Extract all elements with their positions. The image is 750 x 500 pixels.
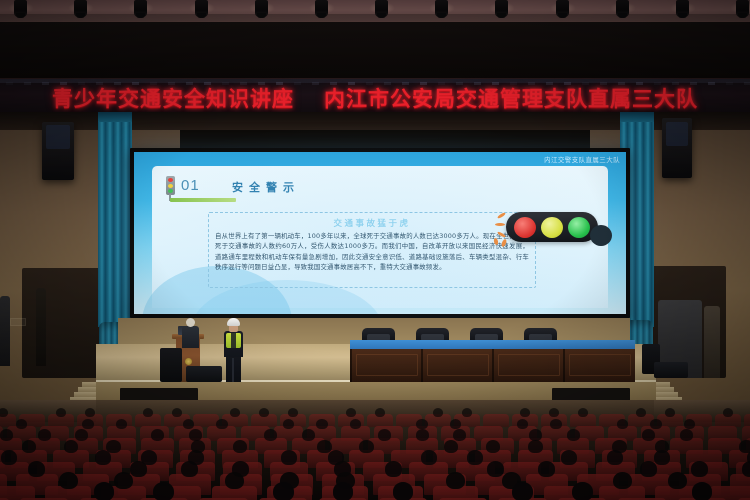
table-seam [421,349,423,382]
curtain-rail-right [620,112,654,122]
slide-text-box: 交通事故猛于虎 自从世界上有了第一辆机动车，100多年以来，全球死于交通事故的人… [208,212,536,288]
banner-led-dot [294,82,301,85]
traffic-light-arm [590,225,612,246]
banner-led-dot [186,82,193,85]
banner-led-dot [672,82,679,85]
audience-member [16,419,28,429]
table-cloth [350,340,635,349]
table-seam [563,349,565,382]
upper-dark-wall [0,22,750,78]
audience-area [0,400,750,500]
audience-member [416,429,429,441]
audience-member [607,450,623,465]
banner-led-dot [6,82,13,85]
audience-member [316,419,328,429]
officer-face [229,325,238,332]
curtain-rail-left [98,112,132,122]
slide-content-card: 01 安全警示 交通事故猛于虎 自从世界上有了第一辆机动车，100多年以来，全球… [152,166,608,308]
audience-member [375,408,385,417]
banner-led-dot [258,82,265,85]
audience-member [421,450,437,465]
banner-led-dot [474,82,481,85]
audience-member [640,461,658,477]
hanging-speaker-right [662,118,692,178]
traffic-light-red [514,217,536,238]
traffic-light-graphic [506,212,598,242]
audience-member [273,482,294,500]
podium-emblem [185,358,192,365]
banner-led-dot [600,82,607,85]
audience-member [444,440,459,453]
audience-member [642,429,655,441]
banner-led-dot [420,82,427,85]
audience-member [684,419,696,429]
audience-member [450,419,462,429]
audience-member [172,408,182,417]
audience-member [153,482,174,500]
banner-title-left: 青少年交通安全知识讲座 [52,83,294,113]
burst-ray [495,223,505,226]
audience-member [462,408,472,417]
audience-member [264,429,277,441]
audience-member [333,482,354,500]
audience-member [75,429,88,441]
audience-member [216,419,228,429]
banner-led-dot [222,82,229,85]
banner-led-dot [330,82,337,85]
ceiling-light [495,0,508,17]
audience-member [0,408,8,417]
audience-member [561,450,577,465]
banner-led-dot [618,82,625,85]
section-marker: 01 [166,176,200,195]
ceiling-light [616,0,629,17]
audience-member [22,440,37,453]
audience-member [283,419,295,429]
ceiling-light [14,0,27,17]
audience-member [183,419,195,429]
audience-member [512,482,533,500]
slide-watermark: 内江交警支队直属三大队 [544,154,620,164]
audience-member [486,440,501,453]
audience-member [259,408,269,417]
audience-member [572,482,593,500]
audience-member [94,482,115,500]
banner-led-dot [726,82,733,85]
audience-member [680,429,693,441]
banner-led-dot [204,82,211,85]
hanging-speaker-left [42,122,74,180]
banner-led-dot [312,82,319,85]
audience-member [520,408,530,417]
audience-member [393,482,414,500]
subwoofer-left [160,348,182,382]
table-panel [427,354,489,376]
audience-member [567,429,580,441]
banner-led-dot [636,82,643,85]
audience-member [433,408,443,417]
officer-white-helmet [227,318,240,326]
officer-legs [226,356,241,382]
banner-led-dot [384,82,391,85]
audience-member [59,472,78,489]
audience-member [233,440,248,453]
ceiling-light [74,0,87,17]
audience-member [739,440,750,453]
door-right-panel[interactable] [704,306,720,378]
table-panel [569,354,631,376]
audience-member [181,461,199,477]
audience-member [28,461,46,477]
stage-monitor-right [654,362,688,378]
presenter-head [186,318,195,327]
wall-switch-plate [10,318,26,326]
table-seam [492,349,494,382]
audience-member [467,450,483,465]
banner-led-dot [96,82,103,85]
banner-led-dot [78,82,85,85]
doorway-left-inner[interactable] [36,288,46,366]
audience-member [38,429,51,441]
audience-member [82,419,94,429]
audience-member [350,419,362,429]
audience-member [317,440,332,453]
stage-monitor-left [186,366,222,382]
banner-led-dot [690,82,697,85]
audience-member [617,419,629,429]
ceiling-light [375,0,388,17]
table-seam [350,349,352,382]
table-panel [356,354,418,376]
audience-member [56,408,66,417]
audience-member [723,408,733,417]
banner-led-dots [0,81,750,87]
curtain-left [98,112,132,327]
banner-led-dot [492,82,499,85]
audience-member [416,419,428,429]
audience-member [578,408,588,417]
audience-member [230,408,240,417]
traffic-light-green [568,217,590,238]
banner-led-dot [510,82,517,85]
audience-member [143,408,153,417]
audience-member [487,461,505,477]
audience-member [151,429,164,441]
banner-led-dot [60,82,67,85]
audience-member [385,461,403,477]
banner-led-dot [546,82,553,85]
audience-member [359,440,374,453]
audience-member [225,472,244,489]
banner-title-right: 内江市公安局交通管理支队直属三大队 [324,83,698,113]
banner-led-dot [366,82,373,85]
audience-member [613,472,632,489]
banner-led-dot [348,82,355,85]
traffic-light-yellow [541,217,563,238]
presentation-slide: 内江交警支队直属三大队 01 安全警示 交通事故猛于虎 自从世界上有了第一辆机动… [134,152,626,314]
audience-member [665,408,675,417]
audience-member [288,408,298,417]
banner-led-dot [456,82,463,85]
banner-led-dot [582,82,589,85]
audience-member [130,461,148,477]
audience-member [95,450,111,465]
section-number: 01 [181,178,200,193]
audience-member [0,429,13,441]
banner-led-dot [132,82,139,85]
traffic-light-icon [166,176,175,195]
banner-led-dot [276,82,283,85]
banner-led-dot [708,82,715,85]
door-left[interactable] [0,296,10,366]
audience-member [654,450,670,465]
ceiling-light [255,0,268,17]
audience-member [281,450,297,465]
audience-member [691,461,709,477]
presenter-body [182,326,199,348]
ceiling-light [195,0,208,17]
audience-member [636,408,646,417]
audience-member [116,419,128,429]
banner-led-dot [528,82,535,85]
ceiling-light [736,0,749,17]
banner-led-dot [240,82,247,85]
audience-member [64,440,79,453]
ceiling-light [134,0,147,17]
audience-member [446,472,465,489]
audience-member [378,429,391,441]
auditorium-scene: 青少年交通安全知识讲座 内江市公安局交通管理支队直属三大队 内江交警支队直属三大… [0,0,750,500]
audience-member [550,419,562,429]
banner-led-dot [564,82,571,85]
section-underline-bar [170,198,236,202]
banner-led-dot [744,82,750,85]
table-panel [498,354,560,376]
projection-screen: 内江交警支队直属三大队 01 安全警示 交通事故猛于虎 自从世界上有了第一辆机动… [130,148,630,318]
banner-led-dot [150,82,157,85]
banner-led-dot [24,82,31,85]
audience-member [302,429,315,441]
slide-body-text: 自从世界上有了第一辆机动车，100多年以来，全球死于交通事故的人数已达3000多… [215,231,529,273]
audience-member [1,450,17,465]
audience-member [668,472,687,489]
audience-member [114,472,133,489]
audience-member [650,419,662,429]
banner-led-dot [438,82,445,85]
audience-member [538,461,556,477]
banner-led-dot [114,82,121,85]
slide-body-title: 交通事故猛于虎 [215,217,529,229]
ceiling-light [676,0,689,17]
officer-reflective-vest [226,333,241,348]
audience-member [692,482,713,500]
banner-led-dot [402,82,409,85]
audience-member [346,408,356,417]
audience-member [517,419,529,429]
audience-member [85,408,95,417]
banner-led-dot [42,82,49,85]
audience-member [549,408,559,417]
ceiling-light [556,0,569,17]
ceiling-light [315,0,328,17]
audience-member [453,429,466,441]
banner-led-dot [168,82,175,85]
ceiling-light [435,0,448,17]
section-title: 安全警示 [232,179,300,195]
banner-led-dot [654,82,661,85]
audience-member [528,440,543,453]
audience-member [742,461,750,477]
